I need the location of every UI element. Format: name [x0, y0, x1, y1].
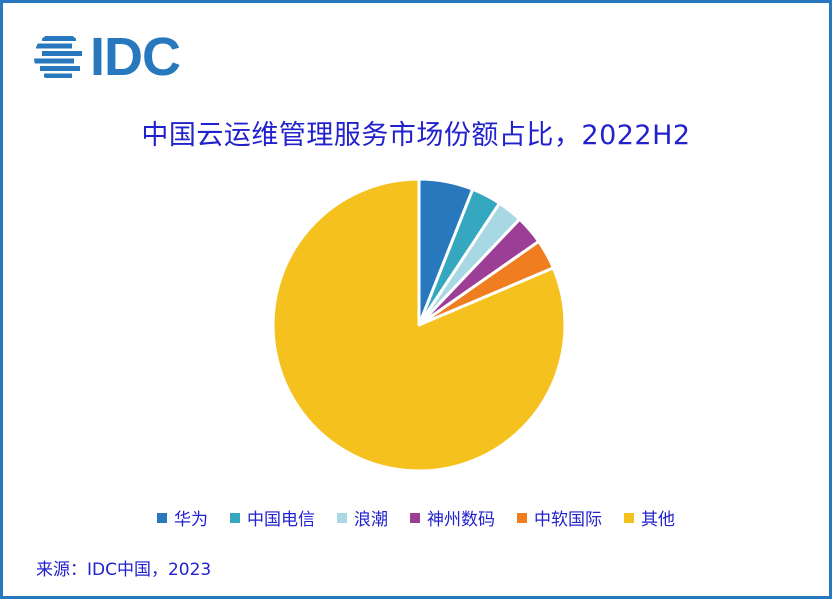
pie-chart-svg [269, 175, 569, 475]
pie-slice-group [273, 179, 565, 471]
pie-chart [3, 175, 832, 487]
idc-logo: IDC [32, 29, 202, 85]
idc-logo-text: IDC [90, 30, 180, 84]
legend-label: 华为 [174, 505, 208, 530]
idc-globe-icon [32, 30, 86, 84]
legend-item[interactable]: 神州数码 [410, 505, 495, 530]
legend-label: 其他 [641, 505, 675, 530]
legend-label: 中软国际 [534, 505, 602, 530]
legend-swatch-icon [624, 513, 634, 523]
legend-swatch-icon [410, 513, 420, 523]
legend-label: 神州数码 [427, 505, 495, 530]
legend-item[interactable]: 中国电信 [230, 505, 315, 530]
source-note: 来源：IDC中国，2023 [36, 555, 211, 580]
chart-title: 中国云运维管理服务市场份额占比，2022H2 [3, 113, 829, 152]
slide-canvas: IDC 中国云运维管理服务市场份额占比，2022H2 华为中国电信浪潮神州数码中… [0, 0, 832, 599]
legend-item[interactable]: 其他 [624, 505, 675, 530]
legend-swatch-icon [230, 513, 240, 523]
legend-swatch-icon [337, 513, 347, 523]
legend-item[interactable]: 中软国际 [517, 505, 602, 530]
legend-label: 浪潮 [354, 505, 388, 530]
legend-label: 中国电信 [247, 505, 315, 530]
chart-legend: 华为中国电信浪潮神州数码中软国际其他 [3, 505, 829, 530]
legend-swatch-icon [157, 513, 167, 523]
legend-swatch-icon [517, 513, 527, 523]
legend-item[interactable]: 华为 [157, 505, 208, 530]
legend-item[interactable]: 浪潮 [337, 505, 388, 530]
